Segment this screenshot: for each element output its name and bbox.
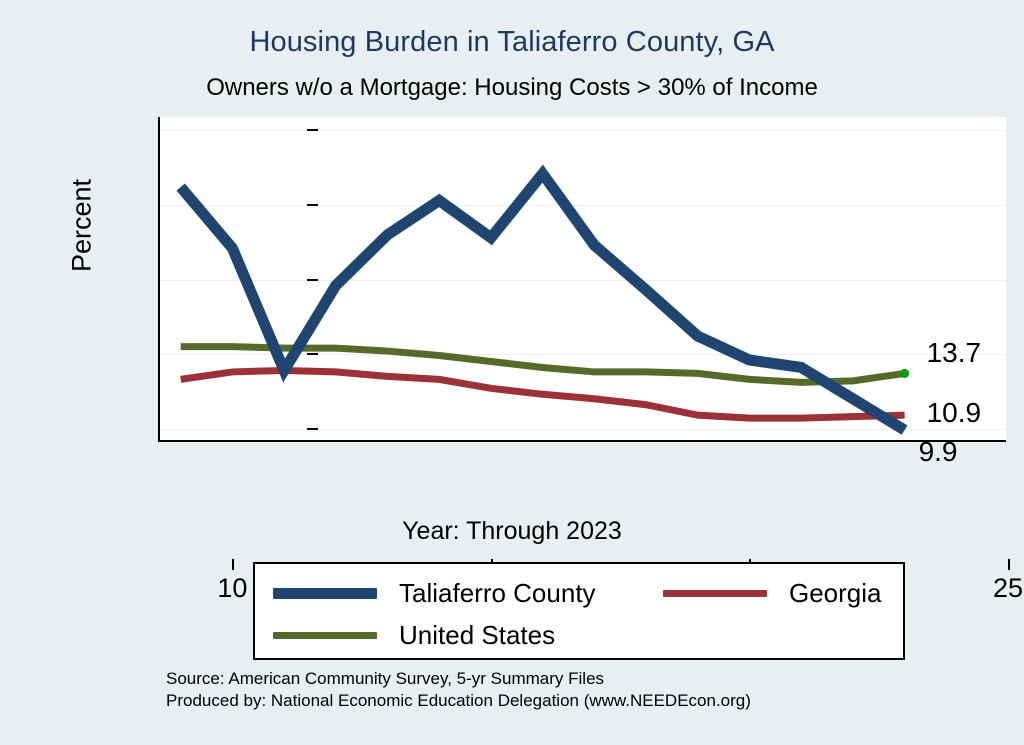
end-value-label-georgia: 10.9 [927, 397, 982, 429]
series-lines [160, 117, 1008, 442]
x-axis-label: Year: Through 2023 [0, 517, 1024, 546]
plot-area: 1015202530101520259.910.913.7 [158, 117, 1006, 442]
x-tick-mark-10 [232, 559, 234, 570]
legend-item-taliaferro-county[interactable]: Taliaferro County [273, 578, 596, 609]
legend-item-united-states[interactable]: United States [273, 620, 555, 651]
footer-producer: Produced by: National Economic Education… [166, 690, 751, 712]
chart-title: Housing Burden in Taliaferro County, GA [0, 26, 1024, 59]
endpoint-marker-united-states [900, 369, 909, 378]
end-value-label-united-states: 13.7 [927, 337, 982, 369]
x-tick-mark-25 [1008, 559, 1010, 570]
chart-legend: Taliaferro CountyGeorgiaUnited States [253, 562, 905, 660]
legend-label: Taliaferro County [399, 578, 596, 609]
legend-swatch-icon [273, 632, 377, 639]
chart-figure: Housing Burden in Taliaferro County, GA … [0, 0, 1024, 745]
chart-subtitle: Owners w/o a Mortgage: Housing Costs > 3… [0, 74, 1024, 102]
end-value-label-taliaferro-county: 9.9 [919, 436, 958, 468]
footer-source: Source: American Community Survey, 5-yr … [166, 668, 751, 690]
x-tick-label-25: 25 [993, 573, 1023, 604]
chart-footer: Source: American Community Survey, 5-yr … [166, 668, 751, 713]
series-line-georgia [181, 370, 905, 418]
y-axis-label: Percent [67, 126, 98, 326]
legend-label: United States [399, 620, 555, 651]
plot-inner: 1015202530101520259.910.913.7 [160, 117, 1006, 440]
legend-swatch-icon [273, 588, 377, 599]
x-tick-label-10: 10 [217, 573, 247, 604]
legend-label: Georgia [789, 578, 882, 609]
legend-item-georgia[interactable]: Georgia [663, 578, 882, 609]
legend-swatch-icon [663, 590, 767, 597]
